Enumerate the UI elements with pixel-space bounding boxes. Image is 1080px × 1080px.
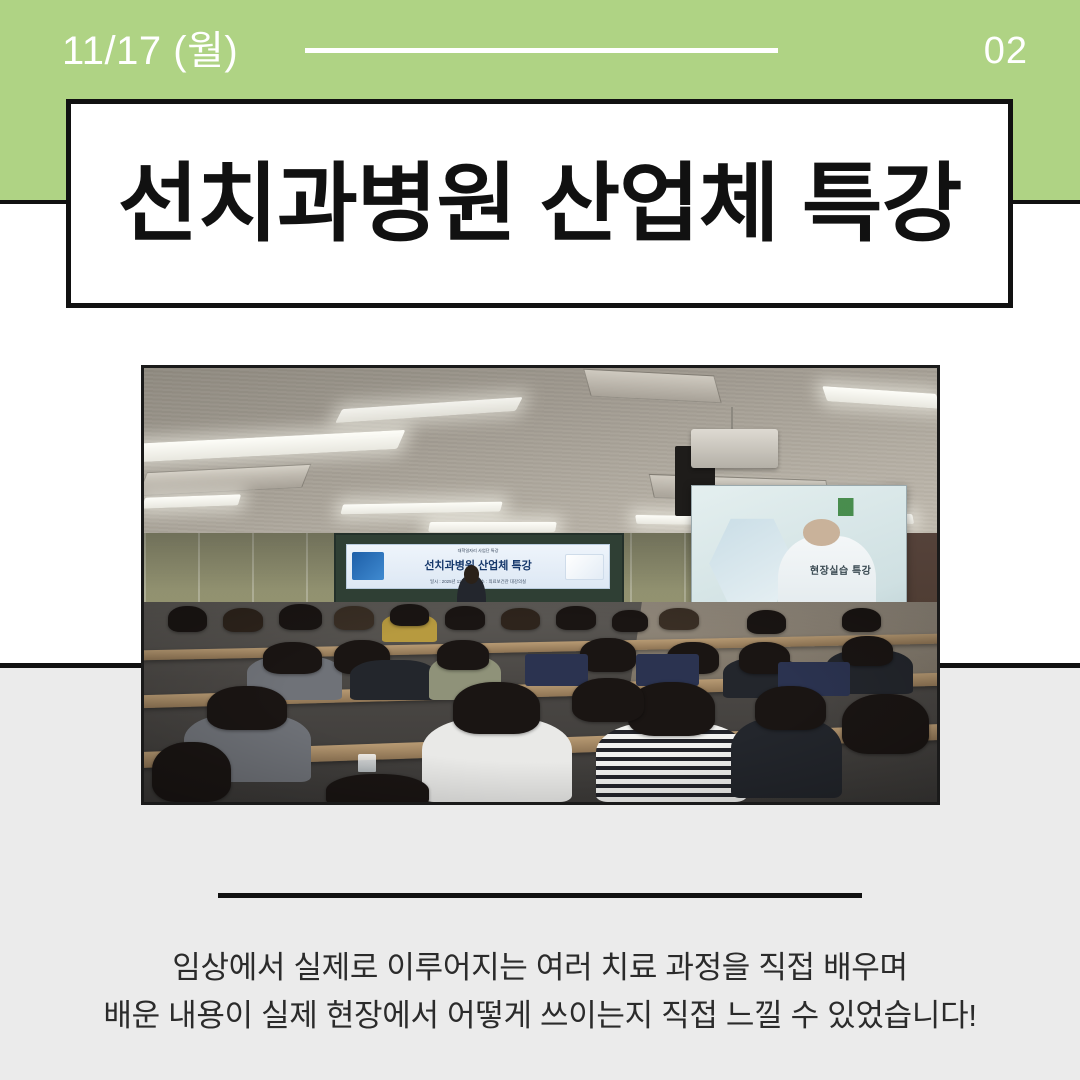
banner-superscript: 대학일자리 사업단 특강 bbox=[458, 548, 499, 554]
slide-title: 현장실습 특강 bbox=[810, 562, 871, 577]
student-head bbox=[842, 636, 894, 666]
student-head bbox=[842, 608, 882, 632]
student-head bbox=[556, 606, 596, 630]
caption-line-2: 배운 내용이 실제 현장에서 어떻게 쓰이는지 직접 느낄 수 있었습니다! bbox=[0, 992, 1080, 1040]
student-head bbox=[326, 774, 429, 802]
student-head bbox=[580, 638, 636, 672]
slide-person-head bbox=[803, 519, 839, 545]
student-head bbox=[659, 608, 699, 630]
student-head bbox=[612, 610, 648, 632]
info-card: 11/17 (월) 02 선치과병원 산업체 특강 bbox=[0, 0, 1080, 1080]
horizontal-rule-icon bbox=[305, 48, 778, 53]
student-body bbox=[731, 718, 842, 798]
caption-divider bbox=[218, 893, 862, 898]
student-head bbox=[445, 606, 485, 630]
student-head bbox=[437, 640, 489, 670]
student-head bbox=[747, 610, 787, 634]
lecture-photo: 대학일자리 사업단 특강 선치과병원 산업체 특강 일시 : 2025년 11월… bbox=[141, 365, 940, 805]
header-row: 11/17 (월) 02 bbox=[0, 22, 1080, 80]
page-number: 02 bbox=[984, 22, 1028, 80]
student-head bbox=[207, 686, 286, 730]
ceiling-light bbox=[429, 522, 558, 532]
student-head bbox=[152, 742, 231, 802]
student-body bbox=[350, 660, 437, 700]
student-head bbox=[572, 678, 643, 722]
title-box: 선치과병원 산업체 특강 bbox=[66, 99, 1013, 308]
student-head bbox=[501, 608, 541, 630]
banner-logo-left-icon bbox=[352, 552, 383, 581]
student-head bbox=[842, 694, 929, 754]
student-head bbox=[334, 606, 374, 630]
student-head bbox=[223, 608, 263, 632]
page-title: 선치과병원 산업체 특강 bbox=[118, 161, 962, 247]
chair bbox=[525, 654, 588, 686]
student-head bbox=[755, 686, 826, 730]
banner-logo-right-icon bbox=[565, 554, 604, 579]
caption-line-1: 임상에서 실제로 이루어지는 여러 치료 과정을 직접 배우며 bbox=[0, 944, 1080, 992]
student-head bbox=[279, 604, 323, 630]
water-bottle bbox=[358, 754, 375, 772]
header-date: 11/17 (월) bbox=[62, 22, 238, 80]
student-head bbox=[453, 682, 540, 734]
photo-content: 대학일자리 사업단 특강 선치과병원 산업체 특강 일시 : 2025년 11월… bbox=[144, 368, 937, 802]
student-head bbox=[168, 606, 208, 632]
projector bbox=[691, 429, 778, 468]
student-head bbox=[263, 642, 322, 674]
slide-logo-icon bbox=[838, 498, 894, 516]
caption-block: 임상에서 실제로 이루어지는 여러 치료 과정을 직접 배우며 배운 내용이 실… bbox=[0, 944, 1080, 1040]
audience-area bbox=[144, 602, 937, 802]
student-head bbox=[390, 604, 430, 626]
